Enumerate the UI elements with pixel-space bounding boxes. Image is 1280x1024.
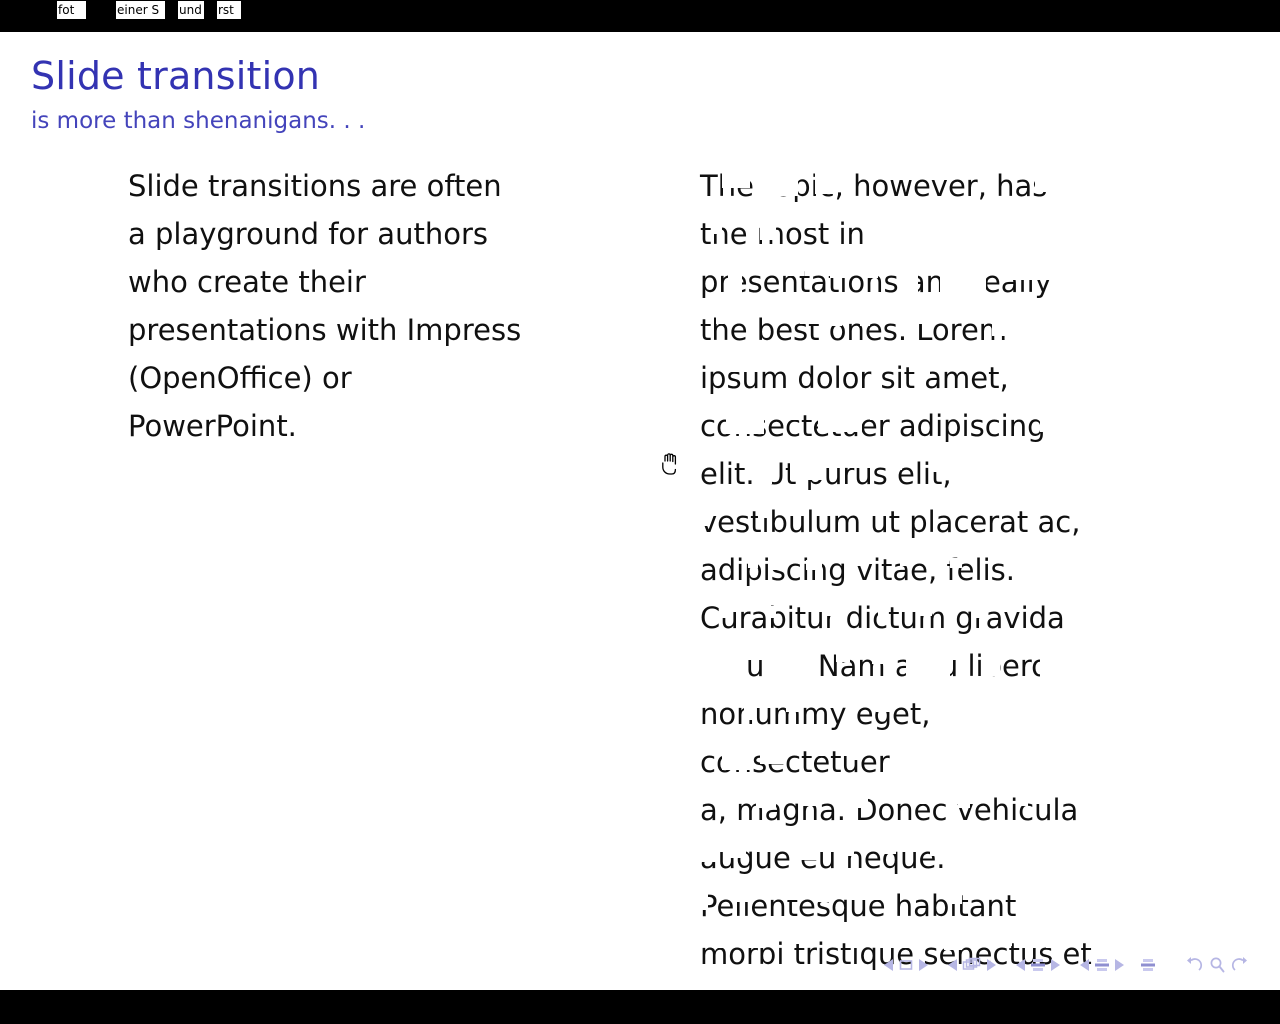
history-navigation-group[interactable] [1182, 956, 1252, 974]
presentation-slide[interactable]: Slide transition is more than shenanigan… [0, 32, 1280, 990]
arrow-back-icon[interactable] [1184, 956, 1204, 974]
text-line: Pellentesque habitant [700, 882, 1170, 930]
triangle-right-icon[interactable] [985, 957, 997, 973]
section-navigation-group[interactable] [1076, 957, 1128, 973]
subsection-navigation-group[interactable] [1012, 957, 1064, 973]
triangle-right-icon[interactable] [1049, 957, 1061, 973]
presentation-indicator-group[interactable] [1140, 957, 1156, 973]
text-line: vestibulum ut placerat ac, [700, 498, 1170, 546]
top-letterbox-bar: fot einer S und rst [0, 0, 1280, 32]
frame-navigation-group[interactable] [944, 957, 1000, 973]
text-line: consectetuer id, vulputate [700, 738, 1170, 786]
window-title-fragment: rst [217, 1, 241, 19]
text-line: presentations with Impress [128, 306, 598, 354]
bars-icon[interactable] [1030, 957, 1046, 973]
text-line: adipiscing vitae, felis. [700, 546, 1170, 594]
window-title-fragment: fot [57, 1, 86, 19]
stacked-frames-icon[interactable] [962, 957, 982, 973]
single-frame-icon[interactable] [898, 957, 914, 973]
triangle-right-icon[interactable] [1113, 957, 1125, 973]
bars-icon[interactable] [1140, 957, 1156, 973]
slide-body-columns: Slide transitions are often a playground… [0, 162, 1280, 990]
window-title-fragment: einer S [116, 1, 165, 19]
text-line: augue eu neque. [700, 834, 1170, 882]
triangle-left-icon[interactable] [1015, 957, 1027, 973]
triangle-left-icon[interactable] [1079, 957, 1091, 973]
window-title-fragment: und [178, 1, 204, 19]
bars-icon[interactable] [1094, 957, 1110, 973]
text-line: ipsum dolor sit amet, [700, 354, 1170, 402]
text-line: the best ones. Lorem [700, 306, 1170, 354]
text-line: Slide transitions are often [128, 162, 598, 210]
text-line: presentations and really [700, 258, 1170, 306]
text-line: elit. Ut purus elit, [700, 450, 1170, 498]
triangle-left-icon[interactable] [883, 957, 895, 973]
mouse-cursor [660, 452, 682, 476]
text-line: mauris. Nam arcu libero, [700, 642, 1170, 690]
triangle-right-icon[interactable] [917, 957, 929, 973]
beamer-navigation-bar[interactable] [880, 954, 1264, 976]
left-column-text: Slide transitions are often a playground… [128, 162, 598, 450]
bottom-letterbox-bar [0, 990, 1280, 1024]
text-line: PowerPoint. [128, 402, 598, 450]
slide-header: Slide transition is more than shenanigan… [31, 54, 731, 135]
text-line: a, magna. Donec vehicula [700, 786, 1170, 834]
grab-hand-icon [660, 452, 682, 476]
text-line: (OpenOffice) or [128, 354, 598, 402]
text-line: nonummy eget, [700, 690, 1170, 738]
magnifier-icon[interactable] [1208, 956, 1226, 974]
text-line: a playground for authors [128, 210, 598, 258]
arrow-forward-icon[interactable] [1230, 956, 1250, 974]
text-line: who create their [128, 258, 598, 306]
triangle-left-icon[interactable] [947, 957, 959, 973]
text-line: the most in [700, 210, 1170, 258]
slide-navigation-group[interactable] [880, 957, 932, 973]
text-line: consectetuer adipiscing [700, 402, 1170, 450]
page-subtitle: is more than shenanigans. . . [31, 108, 731, 135]
page-title: Slide transition [31, 54, 731, 98]
text-line: The topic, however, has [700, 162, 1170, 210]
right-column-text: The topic, however, has the most in pres… [700, 162, 1170, 978]
text-line: Curabitur dictum gravida [700, 594, 1170, 642]
